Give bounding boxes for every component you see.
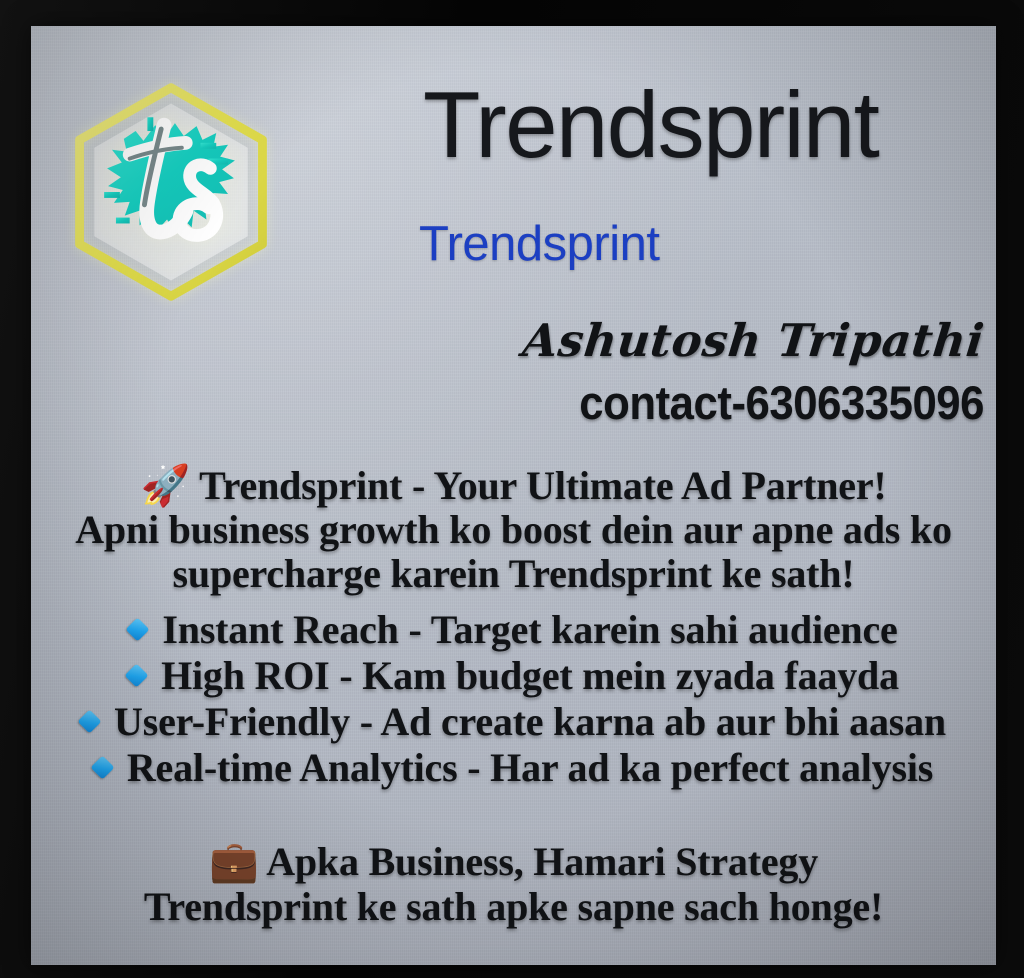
headline-row: 🚀 Trendsprint - Your Ultimate Ad Partner… xyxy=(31,466,996,506)
advertisement-card: Trendsprint Trendsprint Ashutosh Tripath… xyxy=(31,26,996,965)
contact-phone-number[interactable]: contact-6306335096 xyxy=(98,375,984,430)
list-item: User-Friendly - Ad create karna ab aur b… xyxy=(31,702,996,742)
rocket-emoji: 🚀 xyxy=(140,463,190,509)
list-item: Real-time Analytics - Har ad ka perfect … xyxy=(31,748,996,788)
list-item: Instant Reach - Target karein sahi audie… xyxy=(31,610,996,650)
page-title: Trendsprint xyxy=(423,78,983,172)
closing-tagline-row: 💼 Apka Business, Hamari Strategy xyxy=(31,842,996,882)
contact-block: Ashutosh Tripathi contact-6306335096 xyxy=(31,314,996,430)
feature-list: Instant Reach - Target karein sahi audie… xyxy=(31,610,996,788)
list-item: High ROI - Kam budget mein zyada faayda xyxy=(31,656,996,696)
advertisement-body: 🚀 Trendsprint - Your Ultimate Ad Partner… xyxy=(31,466,996,965)
closing-tagline: Apka Business, Hamari Strategy xyxy=(266,839,818,884)
feature-text: High ROI - Kam budget mein zyada faayda xyxy=(161,653,899,698)
blue-diamond-icon xyxy=(78,709,102,733)
brand-header: Trendsprint Trendsprint xyxy=(31,26,996,296)
device-screen-frame: Trendsprint Trendsprint Ashutosh Tripath… xyxy=(0,0,1024,978)
feature-text: Real-time Analytics - Har ad ka perfect … xyxy=(127,745,933,790)
brand-subtitle: Trendsprint xyxy=(419,216,979,272)
owner-name-signature: Ashutosh Tripathi xyxy=(520,314,987,367)
briefcase-emoji: 💼 xyxy=(209,839,259,885)
headline-text: Trendsprint - Your Ultimate Ad Partner! xyxy=(199,463,886,508)
intro-line: supercharge karein Trendsprint ke sath! xyxy=(31,554,996,594)
trendsprint-logo-icon xyxy=(53,74,289,310)
feature-text: User-Friendly - Ad create karna ab aur b… xyxy=(114,699,946,744)
blue-diamond-icon xyxy=(126,617,150,641)
blue-diamond-icon xyxy=(90,755,114,779)
closing-block: 💼 Apka Business, Hamari Strategy Trendsp… xyxy=(31,842,996,927)
closing-promise: Trendsprint ke sath apke sapne sach hong… xyxy=(31,887,996,927)
intro-lines: Apni business growth ko boost dein aur a… xyxy=(31,510,996,594)
intro-line: Apni business growth ko boost dein aur a… xyxy=(31,510,996,550)
feature-text: Instant Reach - Target karein sahi audie… xyxy=(162,607,897,652)
blue-diamond-icon xyxy=(125,663,149,687)
